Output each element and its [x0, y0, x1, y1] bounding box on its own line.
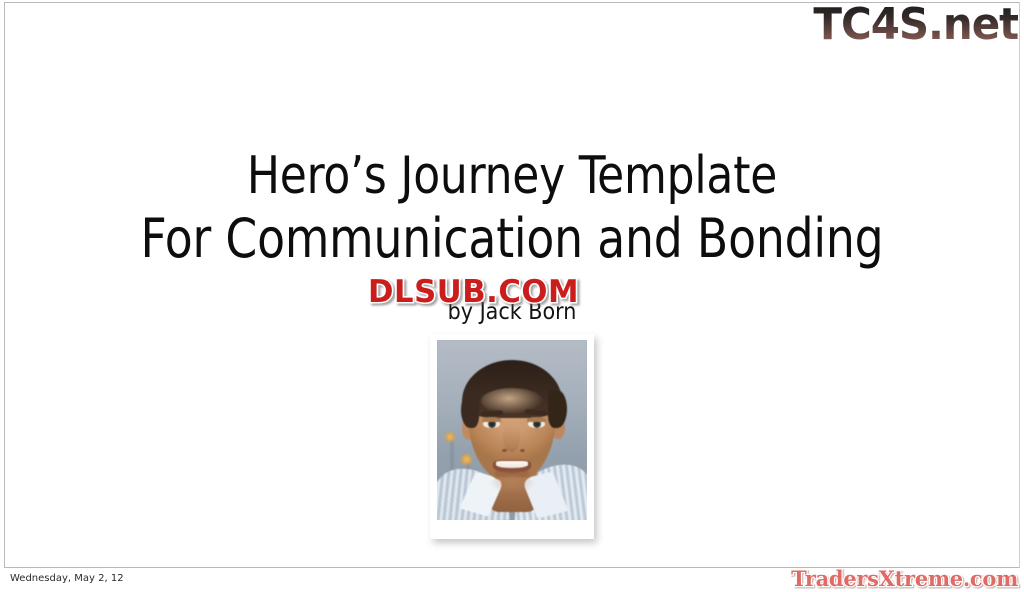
slide-title-block: Hero’s Journey Template For Communicatio… [0, 145, 1024, 271]
page-title-line-2: For Communication and Bonding [31, 207, 994, 271]
watermark-tradersxtreme: TradersXtreme.com [791, 567, 1018, 590]
author-headshot-photo [430, 334, 594, 539]
footer-date: Wednesday, May 2, 12 [10, 572, 124, 585]
portrait-illustration [437, 340, 587, 520]
watermark-dlsub: DLSUB.COM [368, 277, 579, 308]
photo-image-area [437, 340, 587, 520]
watermark-tc4s: TC4S.net [813, 2, 1018, 48]
page-title-line-1: Hero’s Journey Template [31, 145, 994, 207]
presentation-slide: Hero’s Journey Template For Communicatio… [0, 0, 1024, 592]
